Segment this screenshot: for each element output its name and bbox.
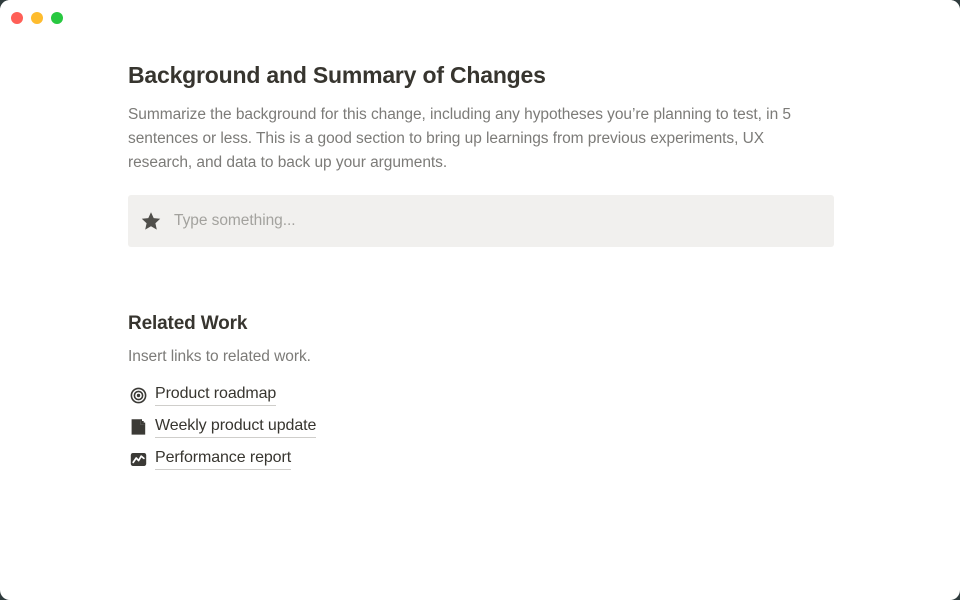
- list-item-label[interactable]: Weekly product update: [155, 416, 316, 438]
- related-work-section: Related Work Insert links to related wor…: [128, 311, 834, 475]
- window-controls: [11, 12, 63, 24]
- summary-input[interactable]: Type something...: [128, 195, 834, 247]
- list-item[interactable]: Weekly product update: [128, 411, 834, 443]
- list-item[interactable]: Product roadmap: [128, 379, 834, 411]
- list-item[interactable]: Performance report: [128, 443, 834, 475]
- title-bar: [0, 0, 960, 38]
- list-item-label[interactable]: Product roadmap: [155, 384, 276, 406]
- app-window: Background and Summary of Changes Summar…: [0, 0, 960, 600]
- minimize-window-button[interactable]: [31, 12, 43, 24]
- list-item-label[interactable]: Performance report: [155, 448, 291, 470]
- page-title: Background and Summary of Changes: [128, 60, 834, 90]
- related-work-title: Related Work: [128, 311, 834, 337]
- related-work-description: Insert links to related work.: [128, 346, 834, 368]
- star-icon: [140, 210, 162, 232]
- document-icon: [128, 417, 148, 437]
- section-description: Summarize the background for this change…: [128, 103, 828, 175]
- related-work-links: Product roadmap Weekly product up: [128, 379, 834, 475]
- close-window-button[interactable]: [11, 12, 23, 24]
- maximize-window-button[interactable]: [51, 12, 63, 24]
- document-content: Background and Summary of Changes Summar…: [128, 60, 834, 475]
- line-chart-icon: [128, 449, 148, 469]
- target-icon: [128, 385, 148, 405]
- summary-input-placeholder: Type something...: [174, 212, 296, 230]
